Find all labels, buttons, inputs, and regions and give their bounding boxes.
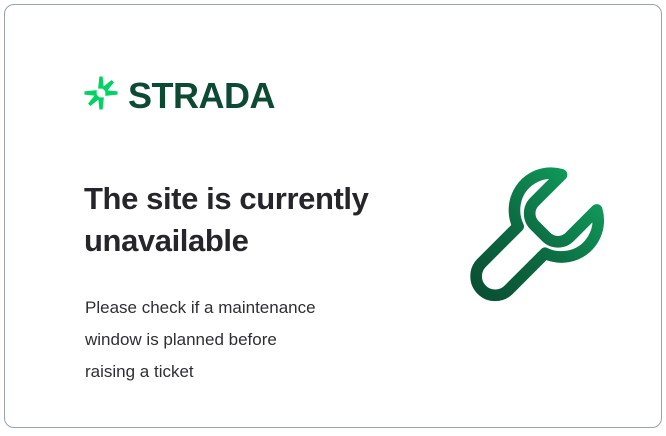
status-description-line-2: window is planned before — [85, 324, 405, 356]
page-title-line-2: unavailable — [84, 220, 424, 262]
status-description: Please check if a maintenance window is … — [85, 292, 405, 388]
strada-asterisk-icon — [83, 75, 119, 117]
status-description-line-3: raising a ticket — [85, 356, 405, 388]
status-card: STRADA The site is currently unavailable… — [4, 4, 662, 428]
status-description-line-1: Please check if a maintenance — [85, 292, 405, 324]
brand-logo: STRADA — [83, 75, 275, 117]
wrench-icon — [460, 160, 615, 315]
page-title: The site is currently unavailable — [84, 178, 424, 262]
page-title-line-1: The site is currently — [84, 181, 368, 216]
brand-wordmark: STRADA — [128, 78, 275, 114]
error-page: STRADA The site is currently unavailable… — [0, 0, 666, 436]
